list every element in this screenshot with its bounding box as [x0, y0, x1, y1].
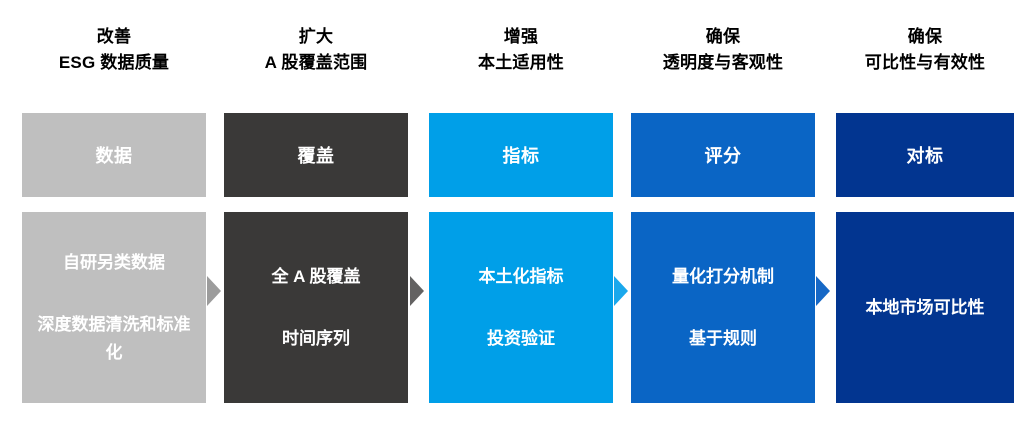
column-header-4: 确保 透明度与客观性	[631, 24, 815, 76]
stage-band-5: 对标	[836, 113, 1014, 197]
stage-detail-3-line-2: 投资验证	[442, 325, 600, 353]
column-header-5-line1: 确保	[908, 27, 942, 46]
stage-band-2: 覆盖	[224, 113, 408, 197]
column-header-1-line1: 改善	[97, 27, 131, 46]
stage-detail-1: 自研另类数据 深度数据清洗和标准化	[22, 212, 206, 403]
column-header-4-line1: 确保	[706, 27, 740, 46]
column-header-5: 确保 可比性与有效性	[836, 24, 1014, 76]
stage-detail-4-line-1: 量化打分机制	[644, 263, 802, 291]
column-header-1-line2: ESG 数据质量	[22, 50, 206, 76]
stage-band-3-label: 指标	[503, 142, 540, 168]
stage-band-4: 评分	[631, 113, 815, 197]
stage-band-4-label: 评分	[705, 142, 742, 168]
stage-detail-1-line-1: 自研另类数据	[35, 249, 193, 277]
stage-detail-4-line-2: 基于规则	[644, 325, 802, 353]
stage-detail-5: 本地市场可比性	[836, 212, 1014, 403]
stage-detail-3: 本土化指标 投资验证	[429, 212, 613, 403]
stage-detail-4: 量化打分机制 基于规则	[631, 212, 815, 403]
column-header-3: 增强 本土适用性	[429, 24, 613, 76]
process-flow-diagram: 改善 ESG 数据质量 数据 自研另类数据 深度数据清洗和标准化 扩大 A 股覆…	[0, 0, 1035, 426]
arrow-right-icon-1	[207, 276, 221, 306]
column-header-5-line2: 可比性与有效性	[836, 50, 1014, 76]
stage-band-5-label: 对标	[907, 142, 944, 168]
stage-band-2-label: 覆盖	[298, 142, 335, 168]
stage-detail-2: 全 A 股覆盖 时间序列	[224, 212, 408, 403]
column-header-2-line1: 扩大	[299, 27, 333, 46]
column-header-2-line2: A 股覆盖范围	[224, 50, 408, 76]
column-header-4-line2: 透明度与客观性	[631, 50, 815, 76]
flow-column-5: 确保 可比性与有效性 对标 本地市场可比性	[836, 0, 1014, 426]
stage-band-1-label: 数据	[96, 142, 133, 168]
arrow-right-icon-2	[410, 276, 424, 306]
stage-band-3: 指标	[429, 113, 613, 197]
flow-column-1: 改善 ESG 数据质量 数据 自研另类数据 深度数据清洗和标准化	[22, 0, 206, 426]
stage-band-1: 数据	[22, 113, 206, 197]
flow-column-2: 扩大 A 股覆盖范围 覆盖 全 A 股覆盖 时间序列	[224, 0, 408, 426]
stage-detail-1-line-2: 深度数据清洗和标准化	[35, 311, 193, 367]
stage-detail-3-line-1: 本土化指标	[442, 263, 600, 291]
flow-column-3: 增强 本土适用性 指标 本土化指标 投资验证	[429, 0, 613, 426]
stage-detail-2-line-1: 全 A 股覆盖	[237, 263, 395, 291]
flow-column-4: 确保 透明度与客观性 评分 量化打分机制 基于规则	[631, 0, 815, 426]
column-header-3-line1: 增强	[504, 27, 538, 46]
stage-detail-2-line-2: 时间序列	[237, 325, 395, 353]
column-header-2: 扩大 A 股覆盖范围	[224, 24, 408, 76]
stage-detail-5-line-1: 本地市场可比性	[848, 294, 1001, 322]
arrow-right-icon-4	[816, 276, 830, 306]
arrow-right-icon-3	[614, 276, 628, 306]
column-header-1: 改善 ESG 数据质量	[22, 24, 206, 76]
column-header-3-line2: 本土适用性	[429, 50, 613, 76]
